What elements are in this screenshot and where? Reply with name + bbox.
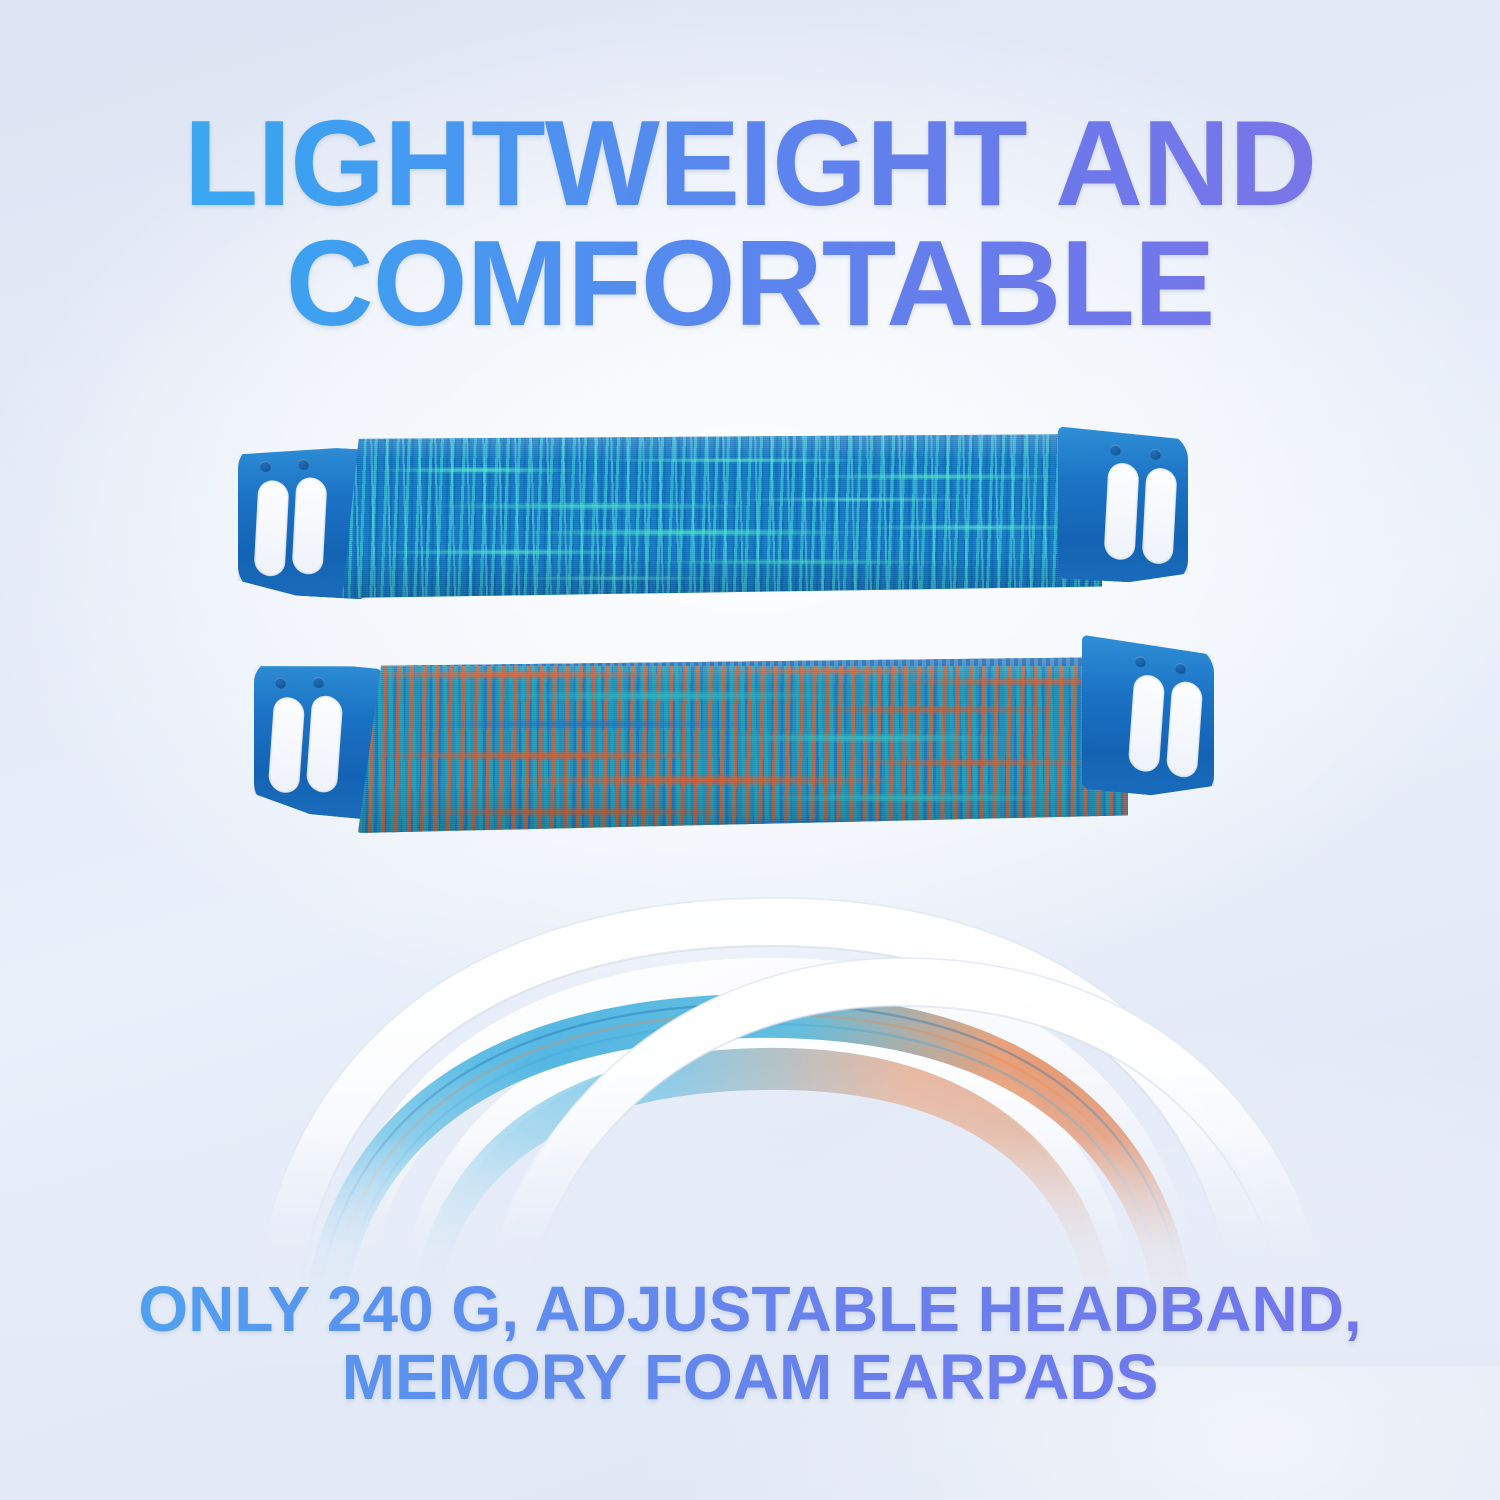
cap-slot (1142, 467, 1178, 566)
product-feature-banner: LIGHTWEIGHT AND COMFORTABLE (0, 0, 1500, 1500)
subline-line-2: MEMORY FOAM EARPADS (0, 1344, 1500, 1412)
rivet-icon (260, 461, 271, 473)
cap-slot (1103, 461, 1139, 561)
cap-slot (268, 695, 306, 795)
cap-slot (291, 476, 327, 576)
subline: ONLY 240 G, ADJUSTABLE HEADBAND, MEMORY … (0, 1276, 1500, 1412)
strap-bottom-left-cap (254, 657, 382, 821)
cap-slot (254, 479, 290, 578)
fabric-shading (358, 657, 1128, 833)
rivet-icon (1110, 444, 1121, 456)
rivet-icon (1175, 663, 1186, 675)
strap-bottom-fabric (358, 657, 1128, 833)
headline-line-1: LIGHTWEIGHT AND (0, 104, 1500, 224)
strap-top-fabric (342, 434, 1102, 598)
cap-slot (1128, 673, 1166, 774)
rivet-icon (1150, 449, 1161, 461)
subline-line-1: ONLY 240 G, ADJUSTABLE HEADBAND, (0, 1276, 1500, 1344)
rivet-icon (313, 677, 324, 689)
rivet-icon (275, 677, 286, 689)
rivet-icon (298, 459, 309, 471)
headline-line-2: COMFORTABLE (0, 224, 1500, 344)
strap-top-right-cap (1058, 426, 1188, 585)
strap-bottom (250, 655, 1220, 845)
rivet-icon (1135, 656, 1146, 668)
headline: LIGHTWEIGHT AND COMFORTABLE (0, 104, 1500, 343)
cap-slot (306, 694, 344, 795)
fabric-shading (342, 434, 1102, 598)
strap-bottom-right-cap (1082, 635, 1214, 801)
strap-top (232, 428, 1192, 606)
cap-slot (1166, 679, 1204, 779)
